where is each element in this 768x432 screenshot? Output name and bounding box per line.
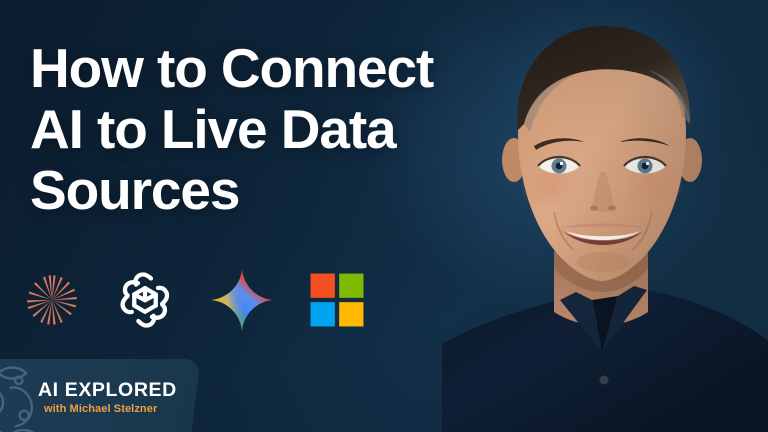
gemini-star-icon (210, 268, 274, 332)
ai-platform-logo-row (24, 266, 364, 334)
show-title: AI EXPLORED (38, 379, 177, 402)
thumbnail-headline: How to Connect AI to Live Data Sources (30, 38, 560, 221)
video-thumbnail: How to Connect AI to Live Data Sources (0, 0, 768, 432)
headline-line-1: How to Connect (30, 38, 560, 99)
headline-line-2: AI to Live Data (30, 99, 560, 160)
microsoft-squares-icon (310, 273, 364, 327)
show-brand-badge: AI EXPLORED with Michael Stelzner (0, 359, 200, 432)
claude-starburst-icon (24, 272, 80, 328)
openai-knot-icon (116, 271, 174, 329)
show-host-line: with Michael Stelzner (44, 403, 157, 415)
headline-line-3: Sources (30, 160, 560, 221)
